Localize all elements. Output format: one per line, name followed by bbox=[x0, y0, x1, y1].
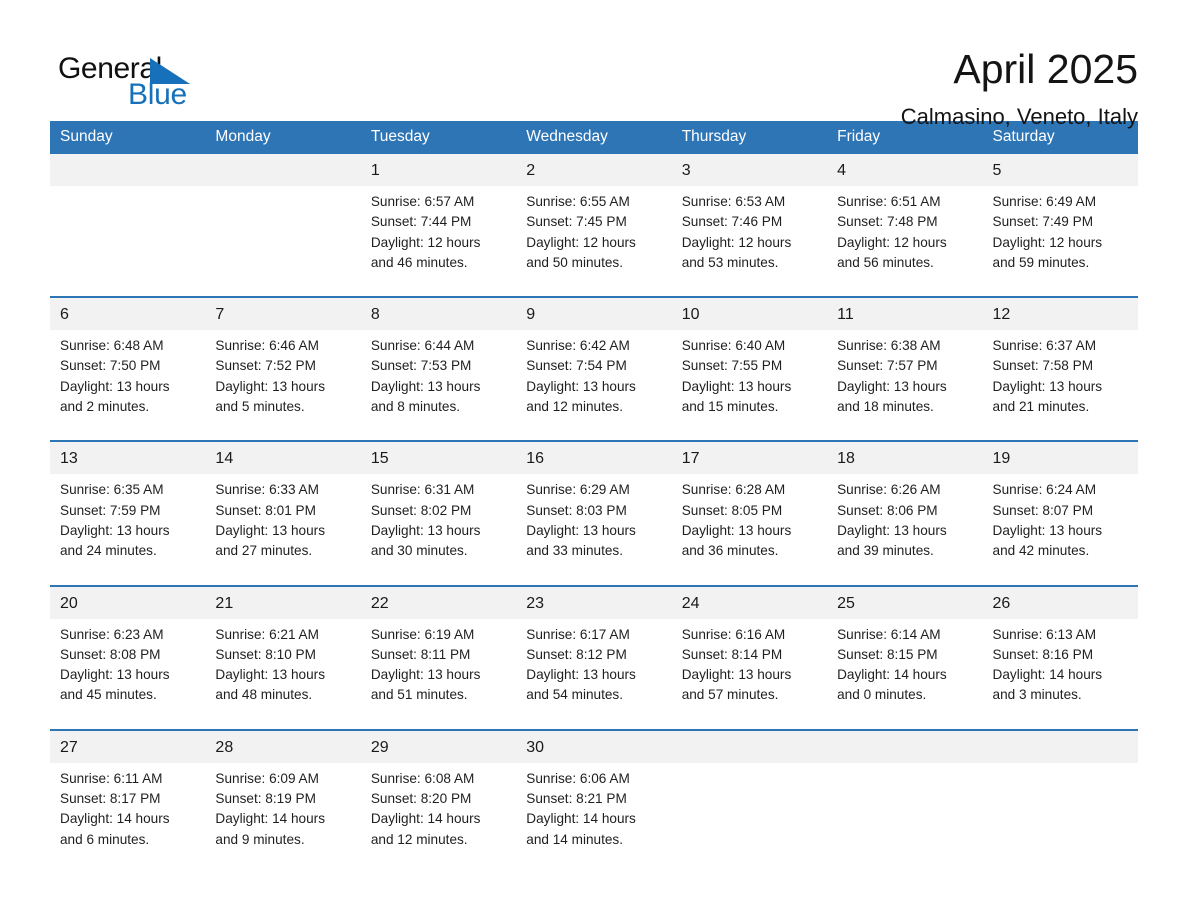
day-number: 2 bbox=[516, 154, 671, 186]
calendar-day-cell[interactable]: 29Sunrise: 6:08 AMSunset: 8:20 PMDayligh… bbox=[361, 730, 516, 860]
daylight-text-line2: and 30 minutes. bbox=[371, 541, 508, 561]
week-spacer bbox=[50, 572, 1138, 586]
calendar-day-cell[interactable]: 14Sunrise: 6:33 AMSunset: 8:01 PMDayligh… bbox=[205, 441, 360, 571]
day-number bbox=[50, 154, 205, 186]
calendar-day-cell[interactable]: 30Sunrise: 6:06 AMSunset: 8:21 PMDayligh… bbox=[516, 730, 671, 860]
sunrise-text: Sunrise: 6:29 AM bbox=[526, 480, 663, 500]
calendar-day-cell[interactable]: 6Sunrise: 6:48 AMSunset: 7:50 PMDaylight… bbox=[50, 297, 205, 427]
daylight-text-line1: Daylight: 12 hours bbox=[837, 233, 974, 253]
daylight-text-line1: Daylight: 13 hours bbox=[682, 521, 819, 541]
daylight-text-line2: and 2 minutes. bbox=[60, 397, 197, 417]
sunset-text: Sunset: 7:58 PM bbox=[993, 356, 1130, 376]
sunset-text: Sunset: 8:11 PM bbox=[371, 645, 508, 665]
calendar-day-cell[interactable]: 26Sunrise: 6:13 AMSunset: 8:16 PMDayligh… bbox=[983, 586, 1138, 716]
sunrise-text: Sunrise: 6:28 AM bbox=[682, 480, 819, 500]
sunrise-text: Sunrise: 6:37 AM bbox=[993, 336, 1130, 356]
sunset-text: Sunset: 7:45 PM bbox=[526, 212, 663, 232]
calendar-page: General Blue April 2025 Calmasino, Venet… bbox=[0, 0, 1188, 918]
daylight-text-line2: and 5 minutes. bbox=[215, 397, 352, 417]
sunset-text: Sunset: 8:14 PM bbox=[682, 645, 819, 665]
sunrise-text: Sunrise: 6:42 AM bbox=[526, 336, 663, 356]
day-number: 17 bbox=[672, 442, 827, 474]
daylight-text-line1: Daylight: 13 hours bbox=[215, 665, 352, 685]
page-subtitle: Calmasino, Veneto, Italy bbox=[901, 103, 1138, 131]
daylight-text-line2: and 46 minutes. bbox=[371, 253, 508, 273]
day-number: 1 bbox=[361, 154, 516, 186]
day-number bbox=[983, 731, 1138, 763]
week-spacer-cell bbox=[50, 427, 1138, 441]
sunset-text: Sunset: 8:03 PM bbox=[526, 501, 663, 521]
calendar-week-row: 20Sunrise: 6:23 AMSunset: 8:08 PMDayligh… bbox=[50, 586, 1138, 716]
sunrise-text: Sunrise: 6:17 AM bbox=[526, 625, 663, 645]
calendar-day-cell-empty bbox=[205, 154, 360, 283]
daylight-text-line1: Daylight: 14 hours bbox=[526, 809, 663, 829]
daylight-text-line1: Daylight: 14 hours bbox=[837, 665, 974, 685]
calendar-day-cell[interactable]: 17Sunrise: 6:28 AMSunset: 8:05 PMDayligh… bbox=[672, 441, 827, 571]
logo-text-blue: Blue bbox=[128, 80, 187, 110]
daylight-text-line2: and 42 minutes. bbox=[993, 541, 1130, 561]
calendar-body: 1Sunrise: 6:57 AMSunset: 7:44 PMDaylight… bbox=[50, 154, 1138, 860]
calendar-day-cell[interactable]: 9Sunrise: 6:42 AMSunset: 7:54 PMDaylight… bbox=[516, 297, 671, 427]
day-details: Sunrise: 6:19 AMSunset: 8:11 PMDaylight:… bbox=[361, 619, 516, 716]
calendar-day-cell[interactable]: 1Sunrise: 6:57 AMSunset: 7:44 PMDaylight… bbox=[361, 154, 516, 283]
sunrise-text: Sunrise: 6:40 AM bbox=[682, 336, 819, 356]
calendar-day-cell[interactable]: 21Sunrise: 6:21 AMSunset: 8:10 PMDayligh… bbox=[205, 586, 360, 716]
day-details: Sunrise: 6:37 AMSunset: 7:58 PMDaylight:… bbox=[983, 330, 1138, 427]
day-details: Sunrise: 6:51 AMSunset: 7:48 PMDaylight:… bbox=[827, 186, 982, 283]
day-details: Sunrise: 6:14 AMSunset: 8:15 PMDaylight:… bbox=[827, 619, 982, 716]
day-number: 6 bbox=[50, 298, 205, 330]
calendar-day-cell[interactable]: 28Sunrise: 6:09 AMSunset: 8:19 PMDayligh… bbox=[205, 730, 360, 860]
sunrise-text: Sunrise: 6:49 AM bbox=[993, 192, 1130, 212]
day-details: Sunrise: 6:26 AMSunset: 8:06 PMDaylight:… bbox=[827, 474, 982, 571]
calendar-day-cell[interactable]: 13Sunrise: 6:35 AMSunset: 7:59 PMDayligh… bbox=[50, 441, 205, 571]
calendar-week-row: 13Sunrise: 6:35 AMSunset: 7:59 PMDayligh… bbox=[50, 441, 1138, 571]
calendar-day-cell[interactable]: 18Sunrise: 6:26 AMSunset: 8:06 PMDayligh… bbox=[827, 441, 982, 571]
daylight-text-line2: and 53 minutes. bbox=[682, 253, 819, 273]
sunset-text: Sunset: 7:52 PM bbox=[215, 356, 352, 376]
calendar-day-cell-empty bbox=[672, 730, 827, 860]
daylight-text-line1: Daylight: 13 hours bbox=[993, 377, 1130, 397]
day-number: 29 bbox=[361, 731, 516, 763]
sunset-text: Sunset: 7:53 PM bbox=[371, 356, 508, 376]
sunset-text: Sunset: 7:59 PM bbox=[60, 501, 197, 521]
day-number: 5 bbox=[983, 154, 1138, 186]
week-spacer bbox=[50, 283, 1138, 297]
day-number: 8 bbox=[361, 298, 516, 330]
day-number bbox=[827, 731, 982, 763]
day-details: Sunrise: 6:17 AMSunset: 8:12 PMDaylight:… bbox=[516, 619, 671, 716]
day-details: Sunrise: 6:29 AMSunset: 8:03 PMDaylight:… bbox=[516, 474, 671, 571]
day-details: Sunrise: 6:33 AMSunset: 8:01 PMDaylight:… bbox=[205, 474, 360, 571]
general-blue-logo[interactable]: General Blue bbox=[50, 44, 200, 114]
week-spacer-cell bbox=[50, 283, 1138, 297]
sunrise-text: Sunrise: 6:48 AM bbox=[60, 336, 197, 356]
daylight-text-line2: and 51 minutes. bbox=[371, 685, 508, 705]
day-details: Sunrise: 6:46 AMSunset: 7:52 PMDaylight:… bbox=[205, 330, 360, 427]
sunset-text: Sunset: 8:21 PM bbox=[526, 789, 663, 809]
day-number: 18 bbox=[827, 442, 982, 474]
sunset-text: Sunset: 7:54 PM bbox=[526, 356, 663, 376]
sunrise-text: Sunrise: 6:13 AM bbox=[993, 625, 1130, 645]
title-block: April 2025 Calmasino, Veneto, Italy bbox=[901, 44, 1138, 131]
daylight-text-line1: Daylight: 13 hours bbox=[215, 521, 352, 541]
day-number: 26 bbox=[983, 587, 1138, 619]
sunrise-text: Sunrise: 6:31 AM bbox=[371, 480, 508, 500]
day-details: Sunrise: 6:44 AMSunset: 7:53 PMDaylight:… bbox=[361, 330, 516, 427]
day-number: 16 bbox=[516, 442, 671, 474]
sunrise-text: Sunrise: 6:24 AM bbox=[993, 480, 1130, 500]
sunrise-text: Sunrise: 6:14 AM bbox=[837, 625, 974, 645]
daylight-text-line2: and 54 minutes. bbox=[526, 685, 663, 705]
day-number: 20 bbox=[50, 587, 205, 619]
sunset-text: Sunset: 8:12 PM bbox=[526, 645, 663, 665]
day-number: 28 bbox=[205, 731, 360, 763]
day-number: 30 bbox=[516, 731, 671, 763]
daylight-text-line1: Daylight: 13 hours bbox=[682, 377, 819, 397]
day-number: 25 bbox=[827, 587, 982, 619]
daylight-text-line2: and 14 minutes. bbox=[526, 830, 663, 850]
daylight-text-line2: and 27 minutes. bbox=[215, 541, 352, 561]
sunrise-text: Sunrise: 6:46 AM bbox=[215, 336, 352, 356]
daylight-text-line1: Daylight: 13 hours bbox=[60, 665, 197, 685]
sunset-text: Sunset: 8:07 PM bbox=[993, 501, 1130, 521]
sunset-text: Sunset: 8:20 PM bbox=[371, 789, 508, 809]
daylight-text-line2: and 33 minutes. bbox=[526, 541, 663, 561]
week-spacer-cell bbox=[50, 572, 1138, 586]
daylight-text-line1: Daylight: 13 hours bbox=[526, 377, 663, 397]
calendar-day-cell[interactable]: 2Sunrise: 6:55 AMSunset: 7:45 PMDaylight… bbox=[516, 154, 671, 283]
daylight-text-line1: Daylight: 13 hours bbox=[371, 665, 508, 685]
sunrise-text: Sunrise: 6:38 AM bbox=[837, 336, 974, 356]
day-details: Sunrise: 6:24 AMSunset: 8:07 PMDaylight:… bbox=[983, 474, 1138, 571]
daylight-text-line2: and 8 minutes. bbox=[371, 397, 508, 417]
calendar-day-cell[interactable]: 3Sunrise: 6:53 AMSunset: 7:46 PMDaylight… bbox=[672, 154, 827, 283]
daylight-text-line2: and 56 minutes. bbox=[837, 253, 974, 273]
day-number: 14 bbox=[205, 442, 360, 474]
day-details: Sunrise: 6:23 AMSunset: 8:08 PMDaylight:… bbox=[50, 619, 205, 716]
weekday-header-thursday: Thursday bbox=[672, 121, 827, 154]
daylight-text-line1: Daylight: 13 hours bbox=[837, 377, 974, 397]
sunset-text: Sunset: 7:46 PM bbox=[682, 212, 819, 232]
day-details: Sunrise: 6:38 AMSunset: 7:57 PMDaylight:… bbox=[827, 330, 982, 427]
day-details: Sunrise: 6:57 AMSunset: 7:44 PMDaylight:… bbox=[361, 186, 516, 283]
day-number: 15 bbox=[361, 442, 516, 474]
daylight-text-line2: and 15 minutes. bbox=[682, 397, 819, 417]
daylight-text-line1: Daylight: 12 hours bbox=[993, 233, 1130, 253]
daylight-text-line1: Daylight: 12 hours bbox=[682, 233, 819, 253]
sunset-text: Sunset: 8:06 PM bbox=[837, 501, 974, 521]
sunrise-text: Sunrise: 6:53 AM bbox=[682, 192, 819, 212]
sunrise-text: Sunrise: 6:21 AM bbox=[215, 625, 352, 645]
sunrise-text: Sunrise: 6:55 AM bbox=[526, 192, 663, 212]
sunrise-text: Sunrise: 6:11 AM bbox=[60, 769, 197, 789]
day-number bbox=[205, 154, 360, 186]
day-details: Sunrise: 6:11 AMSunset: 8:17 PMDaylight:… bbox=[50, 763, 205, 860]
day-details: Sunrise: 6:21 AMSunset: 8:10 PMDaylight:… bbox=[205, 619, 360, 716]
day-details: Sunrise: 6:16 AMSunset: 8:14 PMDaylight:… bbox=[672, 619, 827, 716]
weekday-header-sunday: Sunday bbox=[50, 121, 205, 154]
daylight-text-line1: Daylight: 13 hours bbox=[371, 377, 508, 397]
day-number: 27 bbox=[50, 731, 205, 763]
sunset-text: Sunset: 8:19 PM bbox=[215, 789, 352, 809]
sunrise-text: Sunrise: 6:44 AM bbox=[371, 336, 508, 356]
day-details: Sunrise: 6:40 AMSunset: 7:55 PMDaylight:… bbox=[672, 330, 827, 427]
day-details: Sunrise: 6:31 AMSunset: 8:02 PMDaylight:… bbox=[361, 474, 516, 571]
daylight-text-line1: Daylight: 14 hours bbox=[993, 665, 1130, 685]
sunset-text: Sunset: 8:01 PM bbox=[215, 501, 352, 521]
daylight-text-line2: and 59 minutes. bbox=[993, 253, 1130, 273]
day-details: Sunrise: 6:35 AMSunset: 7:59 PMDaylight:… bbox=[50, 474, 205, 571]
sunset-text: Sunset: 7:57 PM bbox=[837, 356, 974, 376]
daylight-text-line2: and 45 minutes. bbox=[60, 685, 197, 705]
day-number: 12 bbox=[983, 298, 1138, 330]
page-title: April 2025 bbox=[901, 46, 1138, 93]
calendar-day-cell[interactable]: 19Sunrise: 6:24 AMSunset: 8:07 PMDayligh… bbox=[983, 441, 1138, 571]
daylight-text-line1: Daylight: 13 hours bbox=[837, 521, 974, 541]
calendar-day-cell[interactable]: 23Sunrise: 6:17 AMSunset: 8:12 PMDayligh… bbox=[516, 586, 671, 716]
calendar-day-cell-empty bbox=[827, 730, 982, 860]
day-details: Sunrise: 6:28 AMSunset: 8:05 PMDaylight:… bbox=[672, 474, 827, 571]
sunrise-text: Sunrise: 6:51 AM bbox=[837, 192, 974, 212]
calendar-day-cell[interactable]: 10Sunrise: 6:40 AMSunset: 7:55 PMDayligh… bbox=[672, 297, 827, 427]
day-number: 24 bbox=[672, 587, 827, 619]
sunrise-text: Sunrise: 6:06 AM bbox=[526, 769, 663, 789]
daylight-text-line2: and 9 minutes. bbox=[215, 830, 352, 850]
day-number: 11 bbox=[827, 298, 982, 330]
day-number: 23 bbox=[516, 587, 671, 619]
day-number: 10 bbox=[672, 298, 827, 330]
daylight-text-line1: Daylight: 13 hours bbox=[682, 665, 819, 685]
daylight-text-line1: Daylight: 13 hours bbox=[526, 665, 663, 685]
daylight-text-line1: Daylight: 13 hours bbox=[60, 521, 197, 541]
daylight-text-line1: Daylight: 13 hours bbox=[60, 377, 197, 397]
daylight-text-line1: Daylight: 14 hours bbox=[215, 809, 352, 829]
day-details: Sunrise: 6:48 AMSunset: 7:50 PMDaylight:… bbox=[50, 330, 205, 427]
calendar-day-cell[interactable]: 5Sunrise: 6:49 AMSunset: 7:49 PMDaylight… bbox=[983, 154, 1138, 283]
daylight-text-line2: and 39 minutes. bbox=[837, 541, 974, 561]
calendar-week-row: 6Sunrise: 6:48 AMSunset: 7:50 PMDaylight… bbox=[50, 297, 1138, 427]
calendar-day-cell-empty bbox=[983, 730, 1138, 860]
daylight-text-line1: Daylight: 13 hours bbox=[526, 521, 663, 541]
daylight-text-line2: and 3 minutes. bbox=[993, 685, 1130, 705]
sunrise-text: Sunrise: 6:19 AM bbox=[371, 625, 508, 645]
sunset-text: Sunset: 8:17 PM bbox=[60, 789, 197, 809]
daylight-text-line2: and 48 minutes. bbox=[215, 685, 352, 705]
daylight-text-line2: and 12 minutes. bbox=[526, 397, 663, 417]
daylight-text-line2: and 21 minutes. bbox=[993, 397, 1130, 417]
calendar-day-cell[interactable]: 27Sunrise: 6:11 AMSunset: 8:17 PMDayligh… bbox=[50, 730, 205, 860]
daylight-text-line2: and 6 minutes. bbox=[60, 830, 197, 850]
week-spacer bbox=[50, 427, 1138, 441]
calendar-week-row: 27Sunrise: 6:11 AMSunset: 8:17 PMDayligh… bbox=[50, 730, 1138, 860]
calendar-day-cell[interactable]: 11Sunrise: 6:38 AMSunset: 7:57 PMDayligh… bbox=[827, 297, 982, 427]
sunrise-text: Sunrise: 6:23 AM bbox=[60, 625, 197, 645]
daylight-text-line1: Daylight: 13 hours bbox=[993, 521, 1130, 541]
sunrise-text: Sunrise: 6:57 AM bbox=[371, 192, 508, 212]
weekday-header-wednesday: Wednesday bbox=[516, 121, 671, 154]
daylight-text-line1: Daylight: 14 hours bbox=[60, 809, 197, 829]
calendar-day-cell[interactable]: 12Sunrise: 6:37 AMSunset: 7:58 PMDayligh… bbox=[983, 297, 1138, 427]
calendar-table: Sunday Monday Tuesday Wednesday Thursday… bbox=[50, 121, 1138, 860]
sunset-text: Sunset: 8:05 PM bbox=[682, 501, 819, 521]
day-details: Sunrise: 6:53 AMSunset: 7:46 PMDaylight:… bbox=[672, 186, 827, 283]
calendar-day-cell[interactable]: 15Sunrise: 6:31 AMSunset: 8:02 PMDayligh… bbox=[361, 441, 516, 571]
daylight-text-line2: and 0 minutes. bbox=[837, 685, 974, 705]
day-details: Sunrise: 6:42 AMSunset: 7:54 PMDaylight:… bbox=[516, 330, 671, 427]
day-details: Sunrise: 6:06 AMSunset: 8:21 PMDaylight:… bbox=[516, 763, 671, 860]
sunset-text: Sunset: 7:55 PM bbox=[682, 356, 819, 376]
daylight-text-line2: and 12 minutes. bbox=[371, 830, 508, 850]
sunset-text: Sunset: 7:50 PM bbox=[60, 356, 197, 376]
week-spacer-cell bbox=[50, 716, 1138, 730]
weekday-header-monday: Monday bbox=[205, 121, 360, 154]
sunset-text: Sunset: 7:44 PM bbox=[371, 212, 508, 232]
sunset-text: Sunset: 8:08 PM bbox=[60, 645, 197, 665]
sunrise-text: Sunrise: 6:26 AM bbox=[837, 480, 974, 500]
daylight-text-line1: Daylight: 12 hours bbox=[526, 233, 663, 253]
day-details: Sunrise: 6:55 AMSunset: 7:45 PMDaylight:… bbox=[516, 186, 671, 283]
day-details: Sunrise: 6:49 AMSunset: 7:49 PMDaylight:… bbox=[983, 186, 1138, 283]
day-details: Sunrise: 6:09 AMSunset: 8:19 PMDaylight:… bbox=[205, 763, 360, 860]
sunrise-text: Sunrise: 6:35 AM bbox=[60, 480, 197, 500]
daylight-text-line1: Daylight: 12 hours bbox=[371, 233, 508, 253]
day-number: 4 bbox=[827, 154, 982, 186]
calendar-day-cell[interactable]: 8Sunrise: 6:44 AMSunset: 7:53 PMDaylight… bbox=[361, 297, 516, 427]
daylight-text-line2: and 50 minutes. bbox=[526, 253, 663, 273]
calendar-day-cell[interactable]: 4Sunrise: 6:51 AMSunset: 7:48 PMDaylight… bbox=[827, 154, 982, 283]
day-number: 7 bbox=[205, 298, 360, 330]
week-spacer bbox=[50, 716, 1138, 730]
daylight-text-line1: Daylight: 14 hours bbox=[371, 809, 508, 829]
sunrise-text: Sunrise: 6:08 AM bbox=[371, 769, 508, 789]
sunset-text: Sunset: 8:15 PM bbox=[837, 645, 974, 665]
day-number: 3 bbox=[672, 154, 827, 186]
daylight-text-line2: and 36 minutes. bbox=[682, 541, 819, 561]
sunrise-text: Sunrise: 6:09 AM bbox=[215, 769, 352, 789]
calendar-day-cell[interactable]: 25Sunrise: 6:14 AMSunset: 8:15 PMDayligh… bbox=[827, 586, 982, 716]
calendar-day-cell[interactable]: 7Sunrise: 6:46 AMSunset: 7:52 PMDaylight… bbox=[205, 297, 360, 427]
calendar-day-cell[interactable]: 24Sunrise: 6:16 AMSunset: 8:14 PMDayligh… bbox=[672, 586, 827, 716]
sunrise-text: Sunrise: 6:16 AM bbox=[682, 625, 819, 645]
daylight-text-line1: Daylight: 13 hours bbox=[371, 521, 508, 541]
day-number: 21 bbox=[205, 587, 360, 619]
day-number: 13 bbox=[50, 442, 205, 474]
sunset-text: Sunset: 8:16 PM bbox=[993, 645, 1130, 665]
calendar-day-cell[interactable]: 20Sunrise: 6:23 AMSunset: 8:08 PMDayligh… bbox=[50, 586, 205, 716]
day-details: Sunrise: 6:08 AMSunset: 8:20 PMDaylight:… bbox=[361, 763, 516, 860]
day-number: 19 bbox=[983, 442, 1138, 474]
sunset-text: Sunset: 8:02 PM bbox=[371, 501, 508, 521]
weekday-header-tuesday: Tuesday bbox=[361, 121, 516, 154]
sunset-text: Sunset: 7:48 PM bbox=[837, 212, 974, 232]
sunset-text: Sunset: 8:10 PM bbox=[215, 645, 352, 665]
sunrise-text: Sunrise: 6:33 AM bbox=[215, 480, 352, 500]
calendar-day-cell[interactable]: 22Sunrise: 6:19 AMSunset: 8:11 PMDayligh… bbox=[361, 586, 516, 716]
daylight-text-line2: and 57 minutes. bbox=[682, 685, 819, 705]
daylight-text-line1: Daylight: 13 hours bbox=[215, 377, 352, 397]
sunset-text: Sunset: 7:49 PM bbox=[993, 212, 1130, 232]
day-number bbox=[672, 731, 827, 763]
page-header: General Blue April 2025 Calmasino, Venet… bbox=[50, 0, 1138, 104]
calendar-day-cell[interactable]: 16Sunrise: 6:29 AMSunset: 8:03 PMDayligh… bbox=[516, 441, 671, 571]
calendar-week-row: 1Sunrise: 6:57 AMSunset: 7:44 PMDaylight… bbox=[50, 154, 1138, 283]
day-details: Sunrise: 6:13 AMSunset: 8:16 PMDaylight:… bbox=[983, 619, 1138, 716]
daylight-text-line2: and 18 minutes. bbox=[837, 397, 974, 417]
daylight-text-line2: and 24 minutes. bbox=[60, 541, 197, 561]
calendar-day-cell-empty bbox=[50, 154, 205, 283]
day-number: 9 bbox=[516, 298, 671, 330]
day-number: 22 bbox=[361, 587, 516, 619]
